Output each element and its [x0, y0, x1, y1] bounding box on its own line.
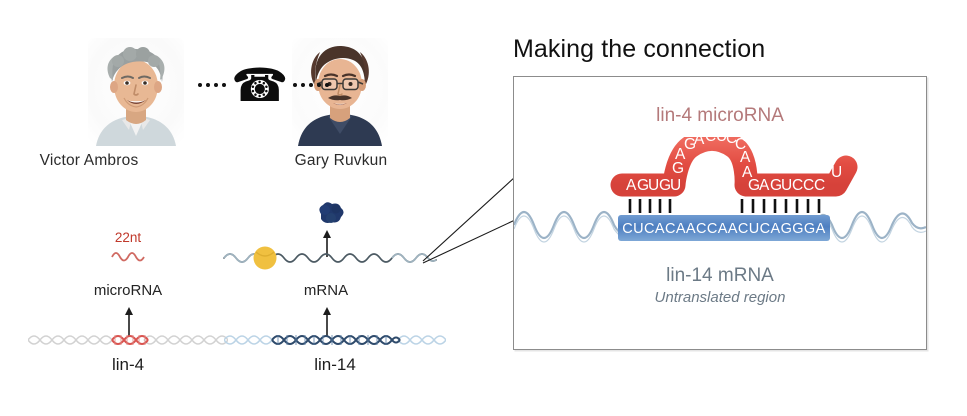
nt-letter: U: [648, 177, 659, 194]
lin14-dna-strand: [224, 330, 446, 350]
inset-panel: lin-4 microRNA: [513, 76, 927, 350]
lin4-dna-strand: [28, 330, 228, 350]
ribosome-icon: [254, 247, 277, 270]
inset-mirna-label: lin-4 microRNA: [514, 105, 926, 127]
mrna-sequence-text: CUCACAACCAACUCAGGGA: [622, 221, 825, 237]
nt-letter: C: [792, 177, 803, 194]
nt-letter: C: [814, 177, 825, 194]
scientist-name-gary-ruvkun: Gary Ruvkun: [246, 152, 436, 170]
nt-letter: C: [705, 137, 716, 145]
nt-letter: A: [626, 177, 637, 194]
portrait-victor-ambros: [88, 38, 184, 146]
connector-dot: [309, 83, 313, 87]
nt-letter: U: [670, 177, 681, 194]
connector-dot: [198, 83, 202, 87]
nt-letter: A: [694, 137, 705, 148]
mirna-molecule-label: microRNA: [78, 282, 178, 299]
magnifier-callout-lines: [415, 175, 525, 270]
inset-utr-label: Untranslated region: [514, 289, 926, 306]
nt-letter: A: [759, 177, 770, 194]
rna-duplex-diagram: CUCACAACCAACUCAGGGA: [514, 137, 926, 262]
figure-canvas: Victor Ambros Gary Ruvkun ☎ 22nt microRN…: [0, 0, 967, 416]
victor-ambros-photo: [88, 38, 184, 146]
lin14-gene-label: lin-14: [285, 355, 385, 375]
mirna-length-label: 22nt: [88, 230, 168, 245]
lin14-highlight-segment: [272, 336, 400, 344]
mrna-molecule-label: mRNA: [286, 282, 366, 299]
lin4-gene-label: lin-4: [78, 355, 178, 375]
inset-mrna-label: lin-14 mRNA: [514, 265, 926, 287]
mrna-transcript-strand: [222, 236, 437, 276]
connector-dot: [206, 83, 210, 87]
nt-letter: U: [781, 177, 792, 194]
mirna-squiggle-icon: [110, 248, 150, 264]
connection-indicator: ☎: [198, 62, 329, 108]
base-pair-ticks-left: [630, 199, 670, 213]
connector-dot: [317, 83, 321, 87]
connector-dot: [301, 83, 305, 87]
base-pair-ticks-right: [742, 199, 819, 213]
connector-dot: [214, 83, 218, 87]
connector-dots-left: [198, 83, 226, 87]
connector-dot: [325, 83, 329, 87]
connector-dots-right: [293, 83, 329, 87]
connector-dot: [222, 83, 226, 87]
scientist-name-victor-ambros: Victor Ambros: [0, 152, 184, 170]
lin4-highlight-segment: [112, 336, 148, 344]
connector-dot: [293, 83, 297, 87]
nt-letter: U: [831, 164, 842, 181]
nt-letter: C: [803, 177, 814, 194]
inset-title: Making the connection: [513, 35, 765, 64]
telephone-handset-icon: ☎: [231, 62, 288, 108]
protein-blob-icon: [313, 200, 347, 228]
